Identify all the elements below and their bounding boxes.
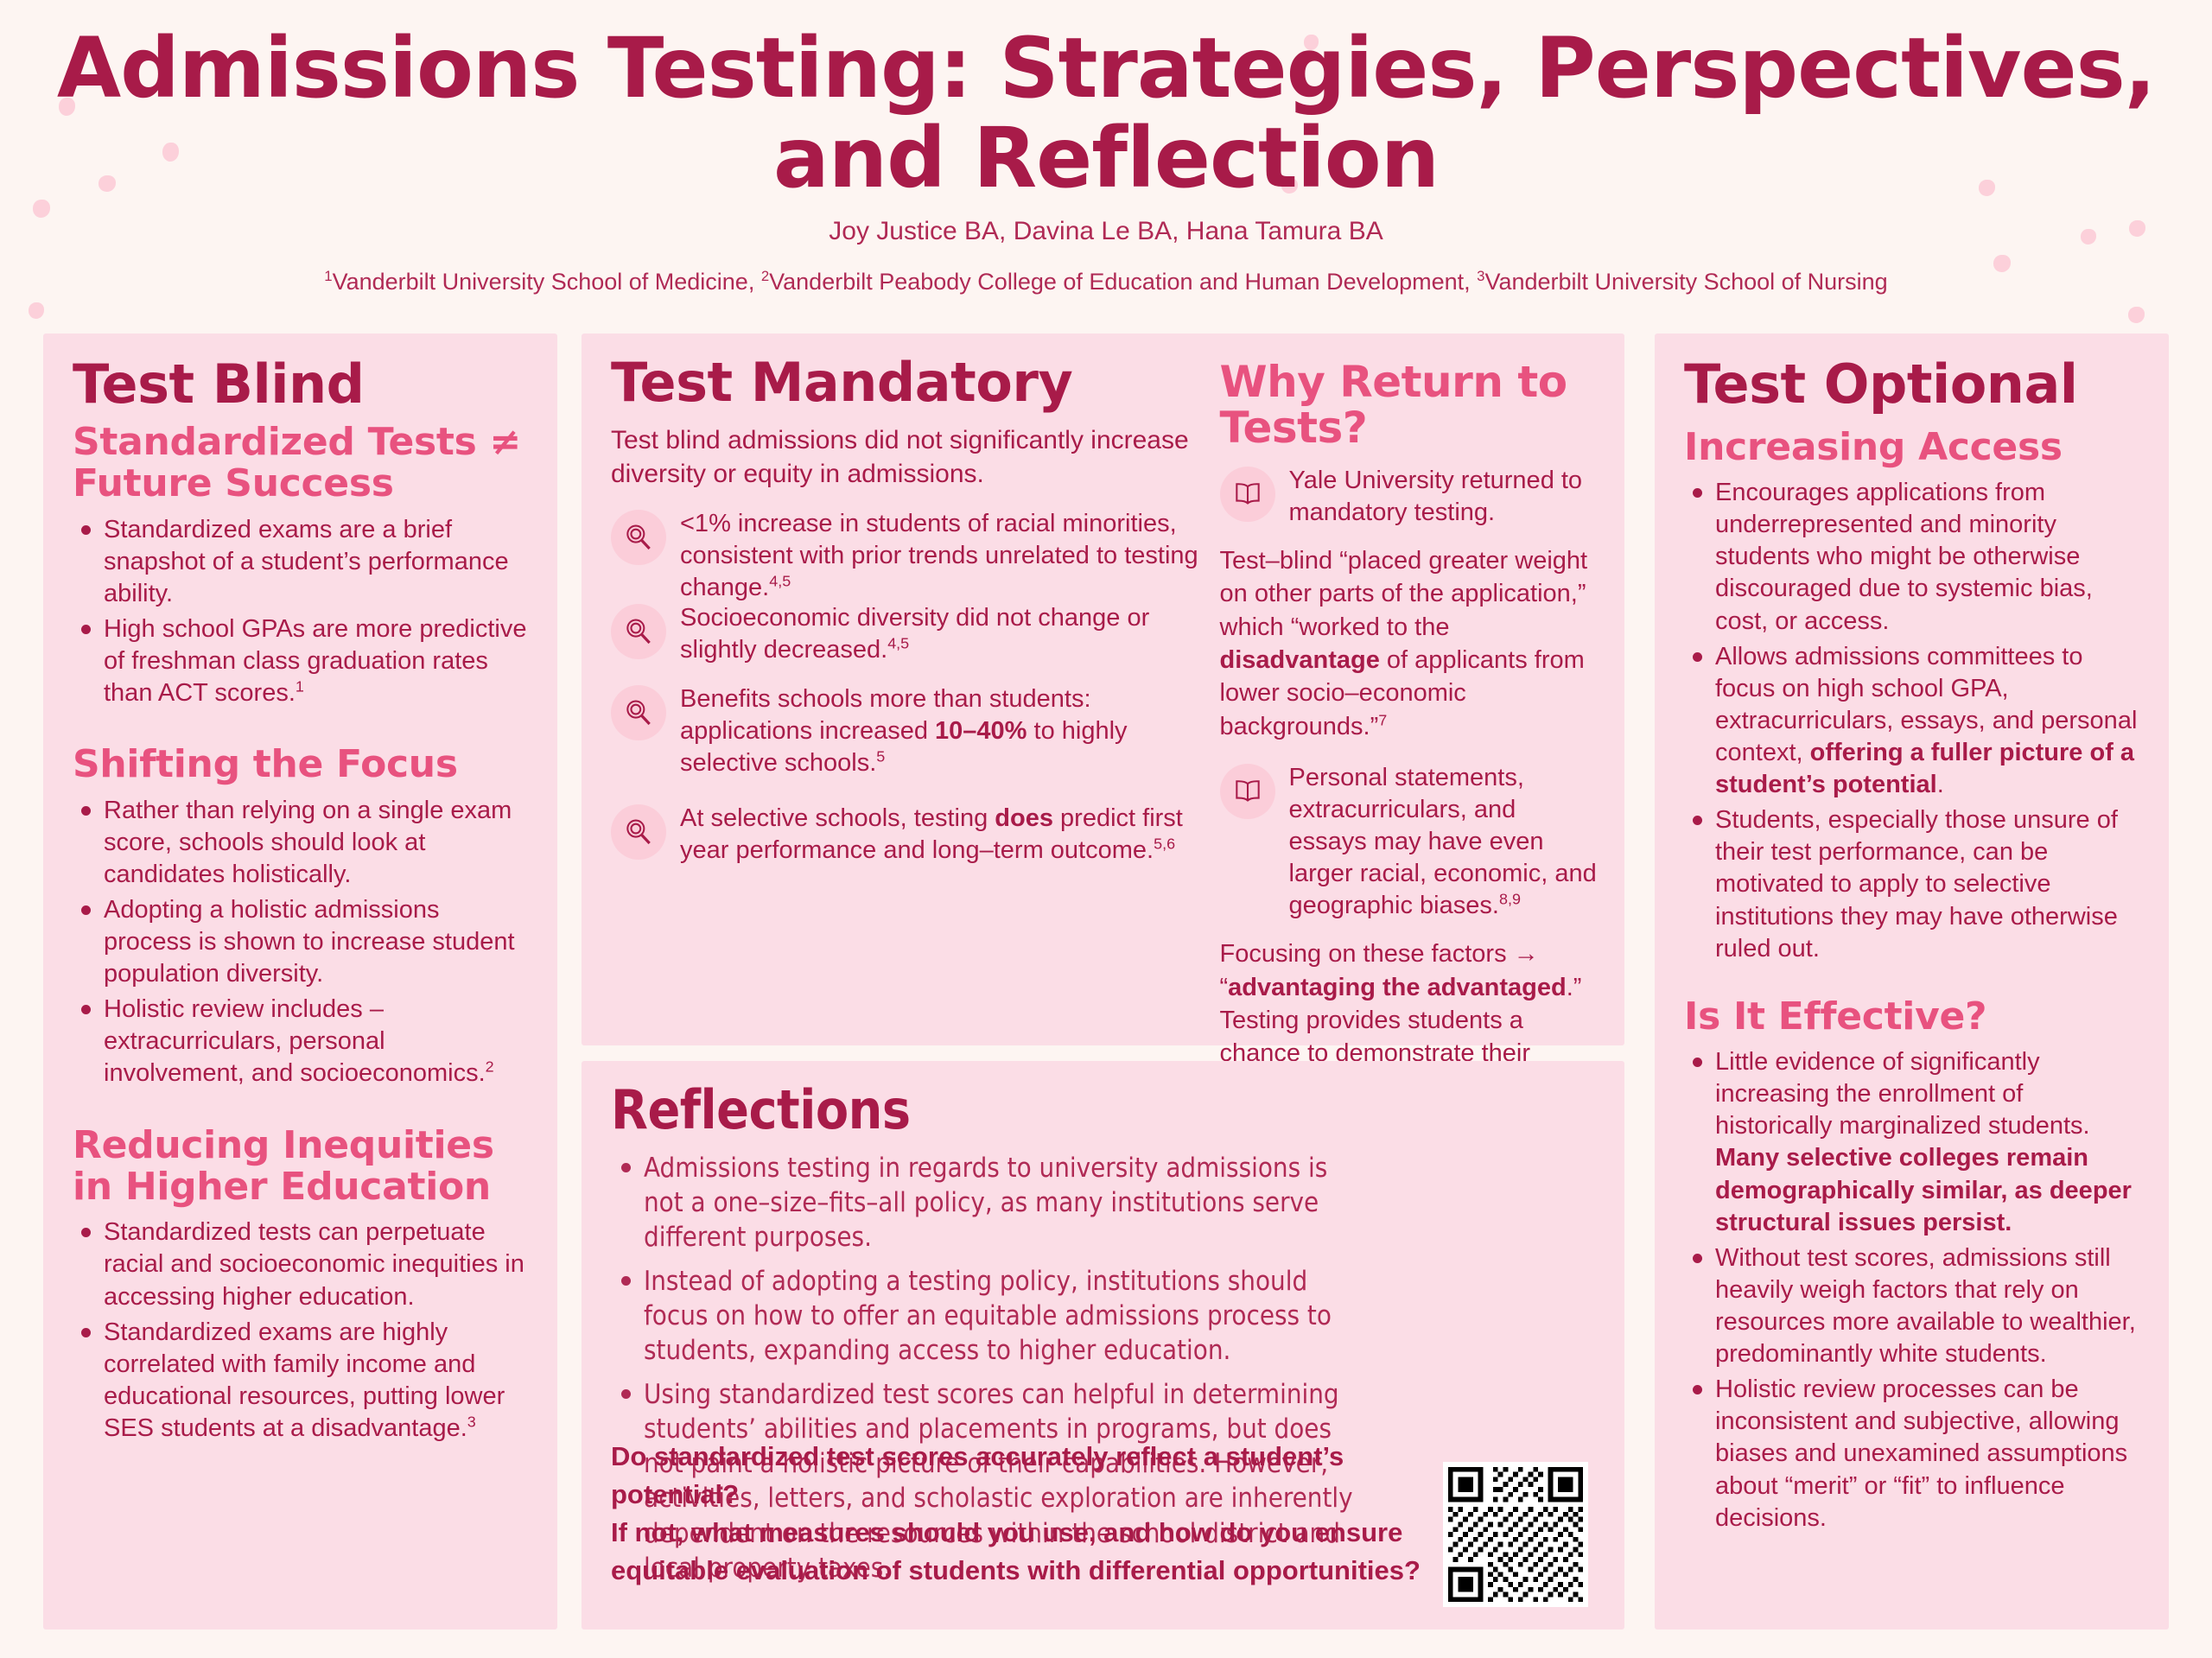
panel-test-blind: Test Blind Standardized Tests ≠ Future S… bbox=[43, 334, 557, 1629]
list-item-text: Little evidence of significantly increas… bbox=[1715, 1048, 2090, 1140]
paragraph-emphasis: disadvantage bbox=[1220, 646, 1380, 674]
subheading-reducing-inequities: Reducing Inequities in Higher Education bbox=[73, 1125, 530, 1209]
poster-header: Admissions Testing: Strategies, Perspect… bbox=[0, 0, 2212, 337]
finding-row: Benefits schools more than students: app… bbox=[611, 682, 1203, 779]
list-item-text: Students, especially those unsure of the… bbox=[1715, 806, 2118, 962]
finding-body: <1% increase in students of racial minor… bbox=[680, 510, 1198, 601]
list-item-text: Standardized tests can perpetuate racial… bbox=[104, 1218, 524, 1310]
list-item: Little evidence of significantly increas… bbox=[1684, 1046, 2141, 1239]
list-item: Students, especially those unsure of the… bbox=[1684, 804, 2141, 965]
question-line-3: equitable evaluation of students with di… bbox=[611, 1555, 1421, 1585]
citation-marker: 7 bbox=[1378, 711, 1387, 728]
finding-row: <1% increase in students of racial minor… bbox=[611, 506, 1203, 604]
finding-row: Socioeconomic diversity did not change o… bbox=[611, 600, 1203, 666]
why-return-row: Yale University returned to mandatory te… bbox=[1220, 463, 1598, 529]
test-mandatory-lead: Test blind admissions did not significan… bbox=[611, 423, 1203, 491]
why-return-text: Yale University returned to mandatory te… bbox=[1289, 463, 1598, 529]
why-return-text: Personal statements, extracurriculars, a… bbox=[1289, 760, 1598, 923]
column-test-mandatory: Test Mandatory Test blind admissions did… bbox=[611, 354, 1203, 1103]
finding-text: <1% increase in students of racial minor… bbox=[680, 506, 1203, 604]
qr-code-image bbox=[1443, 1462, 1588, 1607]
magnifier-icon bbox=[611, 804, 666, 860]
affiliation-marker-2: 2 bbox=[761, 268, 769, 284]
heading-test-optional: Test Optional bbox=[1684, 356, 2141, 413]
list-item-text: Instead of adopting a testing policy, in… bbox=[644, 1266, 1332, 1367]
list-item: Adopting a holistic admissions process i… bbox=[73, 894, 530, 990]
paragraph-part-1: Test–blind “placed greater weight on oth… bbox=[1220, 547, 1588, 641]
citation-marker: 8,9 bbox=[1499, 891, 1521, 908]
heading-test-mandatory: Test Mandatory bbox=[611, 354, 1203, 411]
heading-why-return: Why Return to Tests? bbox=[1220, 359, 1598, 451]
finding-body: Socioeconomic diversity did not change o… bbox=[680, 604, 1149, 664]
title-line-2: and Reflection bbox=[773, 110, 1439, 206]
list-item-text: Holistic review includes – extracurricul… bbox=[104, 995, 486, 1087]
list-item-text: High school GPAs are more predictive of … bbox=[104, 615, 526, 707]
panel-test-optional: Test Optional Increasing Access Encourag… bbox=[1655, 334, 2169, 1629]
list-item: Standardized tests can perpetuate racial… bbox=[73, 1217, 530, 1312]
question-line-1: Do standardized test scores accurately r… bbox=[611, 1441, 1344, 1509]
author-list: Joy Justice BA, Davina Le BA, Hana Tamur… bbox=[0, 217, 2212, 246]
why-return-paragraph-1: Test–blind “placed greater weight on oth… bbox=[1220, 544, 1598, 743]
magnifier-icon bbox=[611, 604, 666, 659]
list-item: Holistic review processes can be inconsi… bbox=[1684, 1374, 2141, 1534]
list-item: Admissions testing in regards to univers… bbox=[611, 1151, 1365, 1255]
list-item: Holistic review includes – extracurricul… bbox=[73, 994, 530, 1089]
column-why-return: Why Return to Tests? Yale University ret… bbox=[1220, 354, 1598, 1103]
finding-emphasis: 10–40% bbox=[935, 717, 1027, 745]
list-item: Standardized exams are highly correlated… bbox=[73, 1317, 530, 1445]
list-item-text: Rather than relying on a single exam sco… bbox=[104, 797, 512, 888]
list-increasing-access: Encourages applications from underrepres… bbox=[1684, 477, 2141, 965]
list-item: Instead of adopting a testing policy, in… bbox=[611, 1264, 1365, 1369]
affiliation-1: Vanderbilt University School of Medicine… bbox=[333, 269, 761, 295]
title-line-1: Admissions Testing: Strategies, Perspect… bbox=[57, 20, 2155, 117]
finding-emphasis: does bbox=[995, 804, 1053, 832]
list-item-emphasis: Many selective colleges remain demograph… bbox=[1715, 1144, 2132, 1236]
heading-test-blind: Test Blind bbox=[73, 356, 530, 413]
poster-root: Admissions Testing: Strategies, Perspect… bbox=[0, 0, 2212, 1658]
why-return-body: Personal statements, extracurriculars, a… bbox=[1289, 764, 1597, 919]
list-is-it-effective: Little evidence of significantly increas… bbox=[1684, 1046, 2141, 1534]
panel-reflections: Reflections Admissions testing in regard… bbox=[582, 1061, 1624, 1629]
citation-marker: 4,5 bbox=[769, 572, 791, 589]
finding-body: At selective schools, testing bbox=[680, 804, 995, 832]
list-test-blind-1: Standardized exams are a brief snapshot … bbox=[73, 514, 530, 710]
affiliations: 1Vanderbilt University School of Medicin… bbox=[0, 269, 2212, 295]
reflection-question: Do standardized test scores accurately r… bbox=[611, 1438, 1475, 1590]
finding-text: Benefits schools more than students: app… bbox=[680, 682, 1203, 779]
list-test-blind-2: Rather than relying on a single exam sco… bbox=[73, 795, 530, 1090]
list-item-text: Standardized exams are highly correlated… bbox=[104, 1318, 505, 1442]
list-test-blind-3: Standardized tests can perpetuate racial… bbox=[73, 1217, 530, 1445]
why-return-row: Personal statements, extracurriculars, a… bbox=[1220, 760, 1598, 923]
magnifier-icon bbox=[611, 510, 666, 565]
subheading-shifting-focus: Shifting the Focus bbox=[73, 744, 530, 785]
book-icon bbox=[1220, 467, 1275, 522]
qr-code[interactable] bbox=[1443, 1462, 1588, 1607]
finding-row: At selective schools, testing does predi… bbox=[611, 801, 1203, 867]
paragraph-emphasis: advantaging the advantaged bbox=[1228, 974, 1567, 1001]
list-item: Standardized exams are a brief snapshot … bbox=[73, 514, 530, 610]
list-item-text: Encourages applications from underrepres… bbox=[1715, 479, 2093, 634]
citation-marker: 5 bbox=[876, 748, 885, 765]
page-title: Admissions Testing: Strategies, Perspect… bbox=[0, 0, 2212, 203]
list-item-text: Without test scores, admissions still he… bbox=[1715, 1244, 2136, 1368]
subheading-line-1: Standardized Tests ≠ bbox=[73, 420, 521, 464]
book-icon bbox=[1220, 764, 1275, 819]
list-item: Without test scores, admissions still he… bbox=[1684, 1242, 2141, 1370]
list-item: Allows admissions committees to focus on… bbox=[1684, 641, 2141, 802]
list-item: Rather than relying on a single exam sco… bbox=[73, 795, 530, 891]
list-item-text: Holistic review processes can be inconsi… bbox=[1715, 1375, 2127, 1531]
citation-marker: 1 bbox=[296, 677, 304, 695]
list-item-text: Standardized exams are a brief snapshot … bbox=[104, 516, 509, 607]
subheading-line-1: Reducing Inequities bbox=[73, 1123, 494, 1167]
subheading-standardized-tests: Standardized Tests ≠ Future Success bbox=[73, 422, 530, 505]
heading-reflections: Reflections bbox=[611, 1082, 1365, 1139]
affiliation-3: Vanderbilt University School of Nursing bbox=[1484, 269, 1887, 295]
citation-marker: 4,5 bbox=[887, 635, 909, 652]
citation-marker: 5,6 bbox=[1154, 835, 1175, 852]
citation-marker: 3 bbox=[467, 1413, 476, 1430]
subheading-line-2: Future Success bbox=[73, 461, 394, 505]
affiliation-marker-1: 1 bbox=[324, 268, 332, 284]
list-item-text: Admissions testing in regards to univers… bbox=[644, 1153, 1327, 1254]
magnifier-icon bbox=[611, 685, 666, 740]
affiliation-2: Vanderbilt Peabody College of Education … bbox=[769, 269, 1477, 295]
subheading-line-2: in Higher Education bbox=[73, 1165, 491, 1209]
question-line-2: If not, what measures should you use, an… bbox=[611, 1517, 1402, 1547]
list-item-text-2: . bbox=[1937, 771, 1944, 798]
subheading-increasing-access: Increasing Access bbox=[1684, 427, 2141, 468]
list-item: High school GPAs are more predictive of … bbox=[73, 613, 530, 709]
finding-text: At selective schools, testing does predi… bbox=[680, 801, 1203, 867]
panel-test-mandatory: Test Mandatory Test blind admissions did… bbox=[582, 334, 1624, 1045]
citation-marker: 2 bbox=[486, 1058, 494, 1076]
list-item: Encourages applications from underrepres… bbox=[1684, 477, 2141, 638]
subheading-is-it-effective: Is It Effective? bbox=[1684, 996, 2141, 1038]
list-item-text: Adopting a holistic admissions process i… bbox=[104, 896, 515, 988]
finding-text: Socioeconomic diversity did not change o… bbox=[680, 600, 1203, 666]
